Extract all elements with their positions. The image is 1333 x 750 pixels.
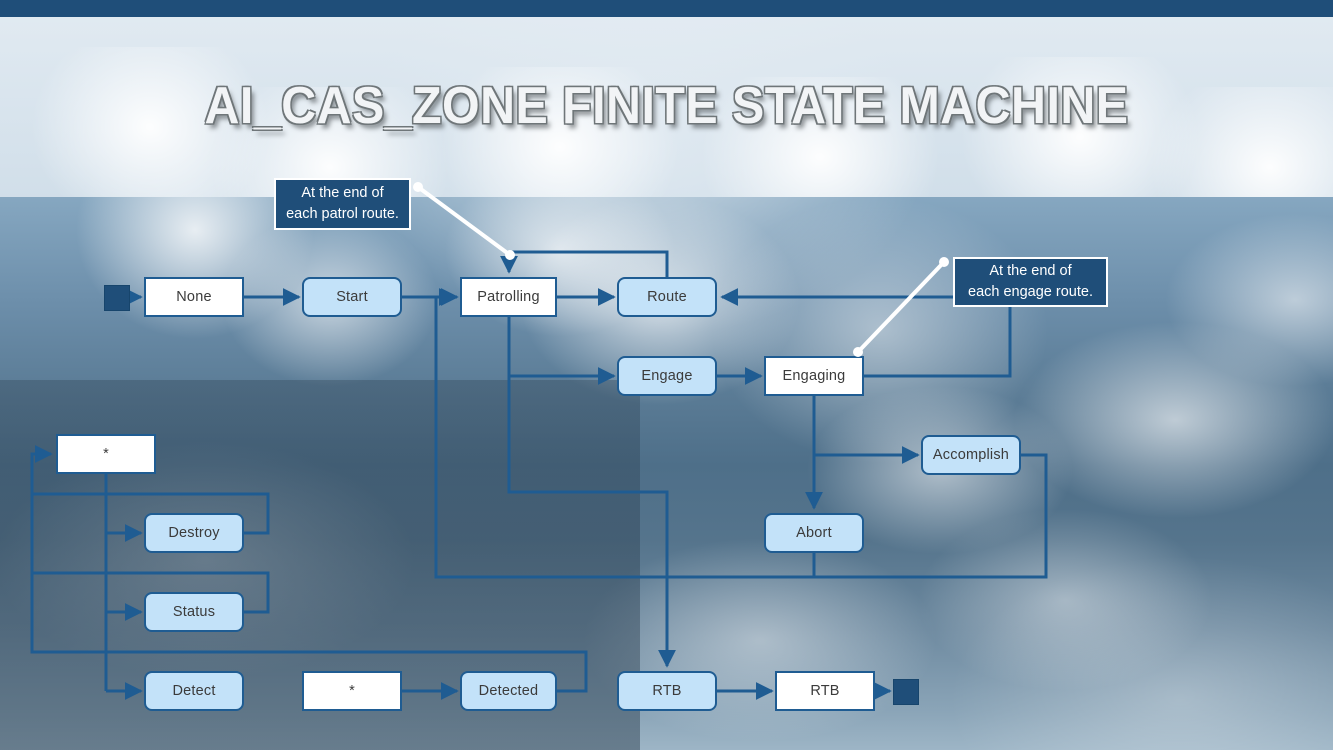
slide-canvas: AI_CAS_ZONE FINITE STATE MACHINE [0,0,1333,750]
node-label: Route [647,289,687,305]
node-status[interactable]: Status [144,592,244,632]
node-detected[interactable]: Detected [460,671,557,711]
node-engage[interactable]: Engage [617,356,717,396]
node-patrolling[interactable]: Patrolling [460,277,557,317]
node-label: Abort [796,525,832,541]
node-rtb-state[interactable]: RTB [775,671,875,711]
node-label: * [349,683,355,699]
node-detect[interactable]: Detect [144,671,244,711]
node-any-2[interactable]: * [302,671,402,711]
node-destroy[interactable]: Destroy [144,513,244,553]
node-label: RTB [652,683,681,699]
node-abort[interactable]: Abort [764,513,864,553]
edge-patrolling-engage [509,317,614,376]
callout-line-1: At the end of [286,183,399,204]
node-label: Accomplish [933,447,1009,463]
node-accomplish[interactable]: Accomplish [921,435,1021,475]
node-rtb-action[interactable]: RTB [617,671,717,711]
node-engaging[interactable]: Engaging [764,356,864,396]
node-label: Engaging [783,368,846,384]
node-start-marker[interactable] [104,285,130,311]
node-end-marker[interactable] [893,679,919,705]
edge-engaging-accomplish [814,396,918,455]
callout-line-1: At the end of [968,261,1093,282]
callout-patrol-callout[interactable]: At the end ofeach patrol route. [274,178,411,230]
node-label: RTB [810,683,839,699]
callout-line-2: each patrol route. [286,204,399,225]
edge-route-patrolling [509,252,667,277]
callout-text: At the end ofeach engage route. [968,261,1093,303]
node-label: Detected [479,683,539,699]
node-route[interactable]: Route [617,277,717,317]
node-none[interactable]: None [144,277,244,317]
node-label: * [103,446,109,462]
node-label: Start [336,289,368,305]
node-label: Patrolling [477,289,539,305]
node-start[interactable]: Start [302,277,402,317]
callout-text: At the end ofeach patrol route. [286,183,399,225]
callout-engage-callout[interactable]: At the end ofeach engage route. [953,257,1108,307]
node-label: Detect [172,683,215,699]
node-label: None [176,289,211,305]
node-label: Status [173,604,215,620]
node-label: Engage [641,368,692,384]
node-label: Destroy [168,525,219,541]
node-any-1[interactable]: * [56,434,156,474]
callout-line-2: each engage route. [968,282,1093,303]
